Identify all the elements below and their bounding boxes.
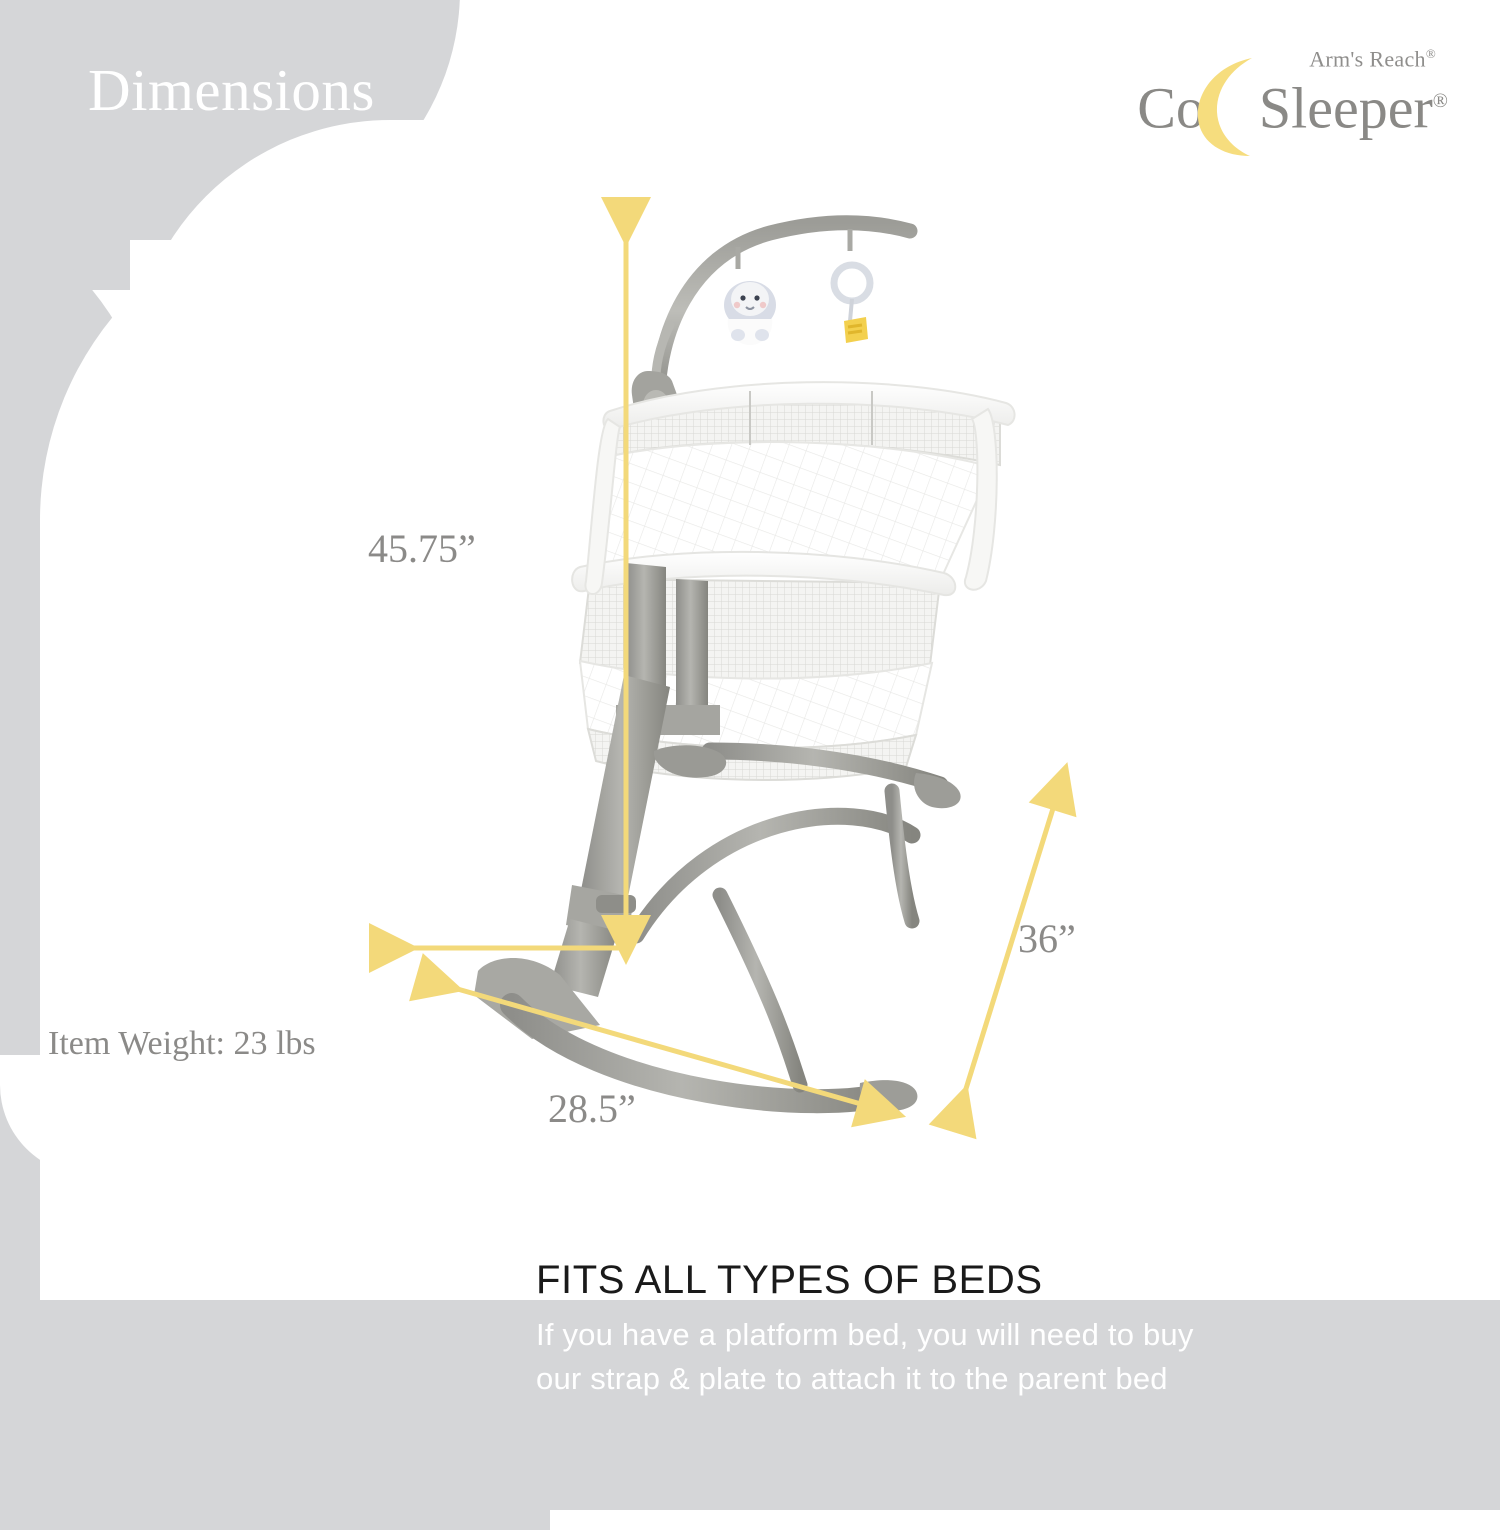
dimension-label-depth: 36”	[1018, 915, 1076, 962]
footer-description-line-2: our strap & plate to attach it to the pa…	[536, 1357, 1456, 1401]
dimension-arrow-height	[394, 222, 630, 948]
item-weight-label: Item Weight: 23 lbs	[48, 1025, 316, 1063]
footer-callout: FITS ALL TYPES OF BEDS If you have a pla…	[536, 1258, 1456, 1401]
dimension-label-height: 45.75”	[368, 525, 476, 572]
dimension-arrow-width	[440, 984, 882, 1110]
footer-description-line-1: If you have a platform bed, you will nee…	[536, 1313, 1456, 1357]
footer-title: FITS ALL TYPES OF BEDS	[536, 1258, 1456, 1303]
dimension-label-width: 28.5”	[548, 1085, 636, 1132]
